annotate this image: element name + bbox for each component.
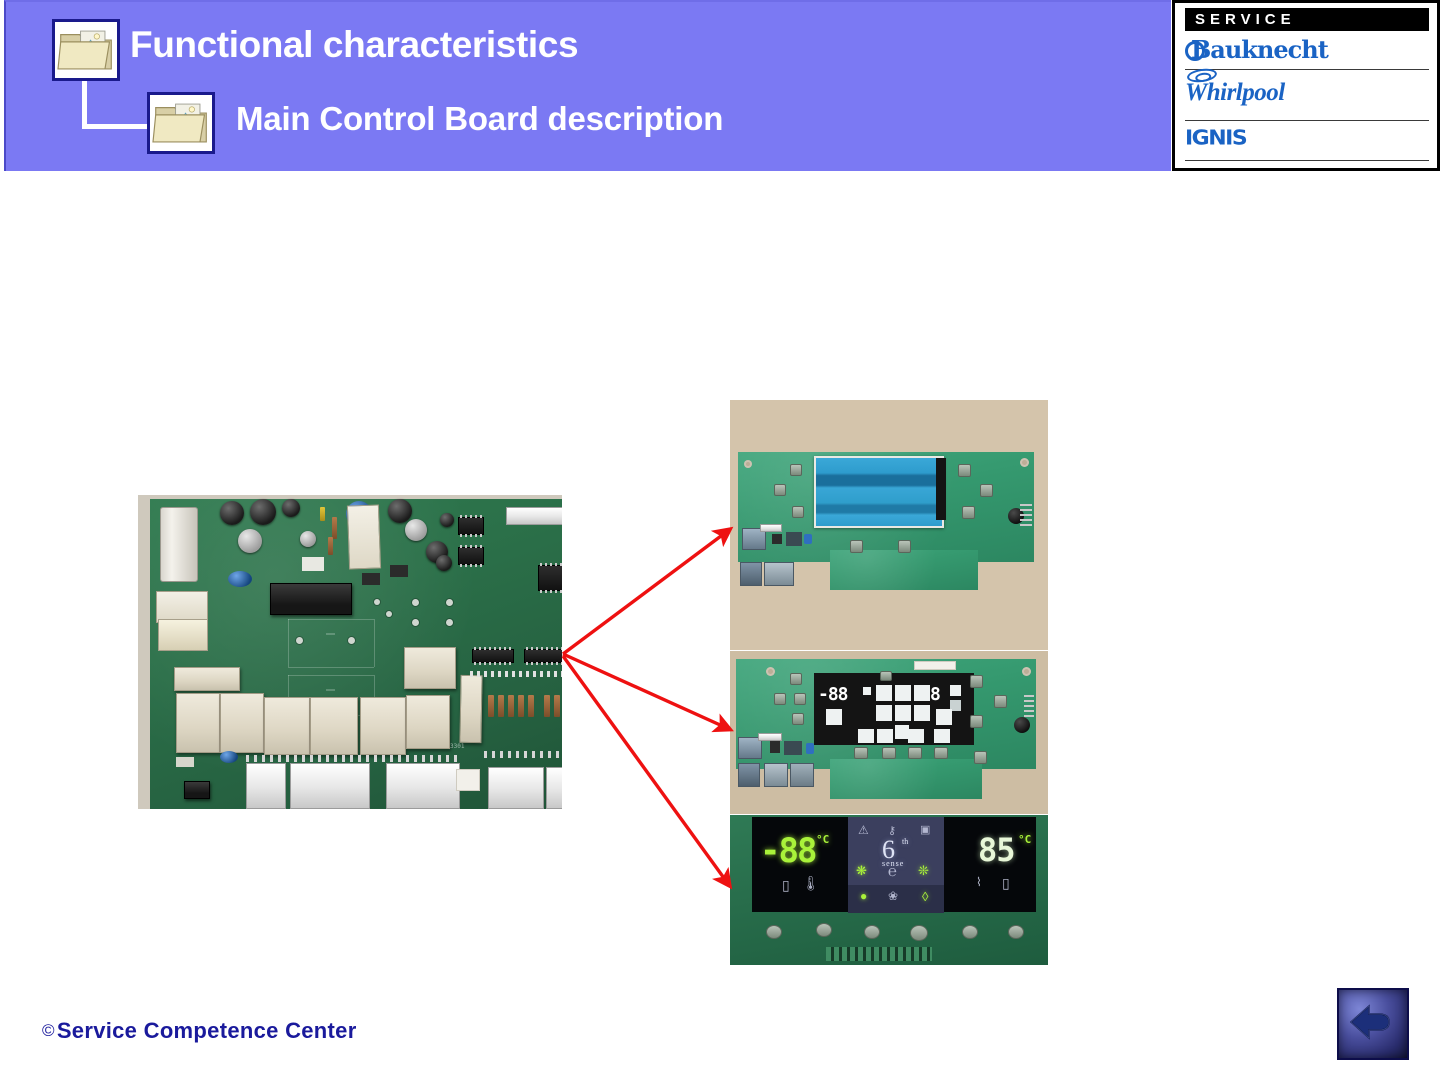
pin-row (470, 671, 562, 677)
key-square[interactable] (934, 729, 950, 743)
back-arrow-icon (1339, 990, 1409, 1060)
door-icon: ▯ (782, 877, 790, 894)
blue-trimmer (806, 743, 814, 754)
warning-triangle-icon: ⚠ (858, 823, 869, 837)
fan-icon: ⌇ (976, 875, 982, 889)
brand-row-bauknecht: Bauknecht (1185, 31, 1429, 70)
buzzer (1014, 717, 1030, 733)
electrolytic-capacitor (436, 555, 452, 571)
via-pad (348, 637, 355, 644)
fuse-holder (459, 675, 482, 743)
key-square[interactable] (895, 705, 911, 721)
electrolytic-capacitor (220, 501, 244, 525)
folder-with-image-icon-child[interactable] (147, 92, 215, 154)
tactile-switch[interactable] (910, 925, 928, 941)
eco-icon: ℮ (888, 863, 897, 880)
brand-logo-panel: SERVICE Bauknecht Whirlpool IGNIS (1172, 0, 1440, 171)
key-square[interactable] (895, 725, 909, 739)
arrow-to-led-board (563, 654, 729, 729)
apple-icon: ● (860, 889, 867, 903)
diode (488, 695, 494, 717)
bauknecht-logo: Bauknecht (1185, 35, 1429, 64)
film-capacitor (160, 507, 198, 582)
diode (498, 695, 504, 717)
door-icon-right: ▯ (1002, 875, 1010, 892)
tactile-switch[interactable] (974, 751, 987, 764)
barcode-label (914, 661, 956, 670)
silkscreen-line (288, 619, 289, 667)
via-pad (412, 599, 419, 606)
smd-component (176, 757, 194, 767)
ignis-logo-text: IGNIS (1185, 127, 1246, 150)
blue-capacitor (220, 751, 238, 763)
diode (554, 695, 560, 717)
water-drop-icon: ◊ (922, 889, 928, 904)
key-square[interactable] (914, 685, 930, 701)
mounting-hole (744, 460, 752, 468)
wire-connector (546, 767, 562, 809)
key-square[interactable] (877, 729, 893, 743)
fruit-basket-icon: ❀ (888, 889, 898, 903)
bauknecht-logo-text: Bauknecht (1191, 35, 1328, 64)
arrow-to-powered-board (563, 656, 729, 885)
electrolytic-capacitor (238, 529, 262, 553)
lcd-ribbon-tab (936, 458, 946, 520)
tactile-switch[interactable] (774, 693, 786, 705)
service-banner: SERVICE (1185, 8, 1429, 31)
ic-chip (472, 649, 514, 663)
resistor (328, 537, 333, 555)
electrolytic-capacitor (282, 499, 300, 517)
pin-row (484, 751, 562, 758)
key-square[interactable] (876, 705, 892, 721)
tactile-switch[interactable] (908, 747, 922, 759)
pin-header (506, 507, 562, 525)
resistor (320, 507, 325, 521)
tactile-switch[interactable] (816, 923, 832, 937)
main-control-board-photo: 3301 (138, 495, 562, 809)
right-temperature-unit: °C (1018, 833, 1031, 846)
bauknecht-ring-icon (1185, 41, 1205, 61)
pcb-substrate: 3301 (150, 499, 562, 809)
wire-connector (488, 767, 544, 809)
key-square[interactable] (858, 729, 874, 743)
key-square[interactable] (914, 705, 930, 721)
ic-chip (458, 517, 484, 535)
tactile-switch[interactable] (994, 695, 1007, 708)
electrolytic-capacitor (405, 519, 427, 541)
arrow-to-lcd-board (563, 530, 729, 654)
key-square[interactable] (895, 685, 911, 701)
transformer (158, 619, 208, 651)
whirlpool-logo-text: Whirlpool (1185, 79, 1429, 107)
power-relay (220, 693, 264, 753)
back-navigation-button[interactable] (1337, 988, 1409, 1060)
pcb-substrate-lower (830, 550, 978, 590)
footer-text-label: Service Competence Center (57, 1018, 357, 1043)
slide-page: Functional characteristics Main Control … (0, 0, 1440, 1080)
seven-segment-left: -88 (818, 684, 848, 705)
smd-component (786, 532, 802, 546)
brand-row-ignis: IGNIS (1185, 121, 1429, 161)
power-relay (264, 697, 310, 755)
tactile-switch[interactable] (1008, 925, 1024, 939)
pin-row (882, 947, 932, 961)
key-square[interactable] (950, 685, 961, 696)
tactile-switch[interactable] (792, 506, 804, 518)
smd-component (784, 741, 802, 755)
pcb-substrate-lower (830, 759, 982, 799)
page-title-secondary: Main Control Board description (236, 100, 723, 138)
ic-chip (458, 547, 484, 565)
display-board-lcd-photo (730, 400, 1048, 650)
electrolytic-capacitor (250, 499, 276, 525)
tactile-switch[interactable] (898, 540, 911, 553)
tactile-switch[interactable] (766, 925, 782, 939)
mounting-hole (1022, 667, 1031, 676)
component-label (456, 769, 480, 791)
board-connector (790, 763, 814, 787)
via-pad (446, 599, 453, 606)
resistor (332, 517, 337, 539)
tactile-switch[interactable] (790, 464, 802, 476)
via-pad (386, 611, 392, 617)
sixth-sense-super: th (902, 837, 908, 846)
smd-component (770, 741, 780, 753)
silkscreen-text: 3301 (450, 743, 464, 750)
tactile-switch[interactable] (934, 747, 948, 759)
optocoupler (184, 781, 210, 799)
board-connector (764, 763, 788, 787)
pin-row (1020, 504, 1032, 526)
power-relay (174, 667, 240, 691)
board-connector (764, 562, 794, 586)
lcd-screen (814, 456, 944, 528)
seven-segment-right: 8 (930, 684, 941, 705)
tactile-switch[interactable] (958, 464, 971, 477)
whirlpool-logo: Whirlpool (1185, 68, 1429, 96)
diode (544, 695, 550, 717)
header-band: Functional characteristics Main Control … (4, 0, 1171, 171)
diode (518, 695, 524, 717)
blue-capacitor (228, 571, 252, 587)
diode (508, 695, 514, 717)
tactile-switch[interactable] (792, 713, 804, 725)
via-pad (296, 637, 303, 644)
switching-transformer (347, 504, 381, 569)
diode (528, 695, 534, 717)
tactile-switch[interactable] (864, 925, 880, 939)
page-title-primary: Functional characteristics (130, 24, 578, 66)
board-connector (740, 562, 762, 586)
fastcool-box-icon: ▣ (920, 823, 930, 836)
left-temperature-readout: -88 (760, 831, 815, 871)
board-connector (738, 763, 760, 787)
power-relay (360, 697, 406, 755)
tactile-switch[interactable] (962, 506, 975, 519)
smd-component (362, 573, 380, 585)
via-pad (374, 599, 380, 605)
omron-relay (270, 583, 352, 615)
tactile-switch[interactable] (970, 675, 983, 688)
power-relay (406, 695, 450, 749)
blue-trimmer (804, 534, 812, 544)
smd-component (390, 565, 408, 577)
pin-row (1024, 695, 1034, 717)
white-connector (758, 733, 782, 741)
silkscreen-line (288, 619, 374, 620)
wire-connector (246, 763, 286, 809)
tactile-switch[interactable] (882, 747, 896, 759)
silkscreen-cap-symbol (326, 633, 335, 635)
ic-chip (524, 649, 562, 663)
microcontroller-chip (538, 565, 562, 591)
tactile-switch[interactable] (980, 484, 993, 497)
key-square[interactable] (876, 685, 892, 701)
silkscreen-line (374, 619, 375, 667)
freeze-icon-right: ❊ (918, 863, 929, 879)
silkscreen-cap-symbol (326, 689, 335, 691)
key-square[interactable] (826, 709, 842, 725)
electrolytic-capacitor (300, 531, 316, 547)
display-board-led-keys-photo: -88 8 (730, 651, 1048, 814)
footer-copyright: ©Service Competence Center (42, 1018, 357, 1044)
display-board-powered-photo: -88 °C ▯ 🌡 ⚠ ⚷ ▣ 6 th sense ❋ ℮ ❊ ● ❀ ◊ … (730, 815, 1048, 965)
silkscreen-line (288, 675, 374, 676)
left-temperature-unit: °C (816, 833, 829, 846)
via-pad (412, 619, 419, 626)
tactile-switch[interactable] (774, 484, 786, 496)
silkscreen-line (288, 667, 374, 668)
key-square[interactable] (863, 687, 871, 695)
wire-connector (290, 763, 370, 809)
via-pad (446, 619, 453, 626)
pin-row (246, 755, 462, 762)
tactile-switch[interactable] (850, 540, 863, 553)
tactile-switch[interactable] (794, 693, 806, 705)
electrolytic-capacitor (440, 513, 454, 527)
tactile-switch[interactable] (854, 747, 868, 759)
wire-connector (386, 763, 460, 809)
freeze-icon-left: ❋ (856, 863, 867, 879)
tactile-switch[interactable] (962, 925, 978, 939)
power-relay (404, 647, 456, 689)
pin-row (826, 947, 882, 961)
tactile-switch[interactable] (880, 671, 892, 681)
copyright-icon: © (42, 1021, 55, 1040)
mounting-hole (1020, 458, 1029, 467)
power-relay (176, 693, 220, 753)
tactile-switch[interactable] (790, 673, 802, 685)
folder-tree-connector-horizontal (82, 124, 150, 129)
key-square[interactable] (908, 729, 924, 743)
right-temperature-readout: 85 (978, 831, 1015, 869)
tactile-switch[interactable] (970, 715, 983, 728)
brand-row-whirlpool: Whirlpool (1185, 70, 1429, 121)
smd-component (302, 557, 324, 571)
folder-with-image-icon-child-glyph (150, 95, 212, 151)
folder-with-image-icon-glyph (55, 22, 117, 78)
thermometer-icon: 🌡 (802, 875, 820, 892)
white-connector (760, 524, 782, 532)
smd-component (772, 534, 782, 544)
folder-tree-connector-vertical (82, 81, 87, 129)
folder-with-image-icon[interactable] (52, 19, 120, 81)
key-square[interactable] (936, 709, 952, 725)
electrolytic-capacitor (388, 499, 412, 523)
mounting-hole (766, 667, 775, 676)
power-relay (310, 697, 358, 755)
